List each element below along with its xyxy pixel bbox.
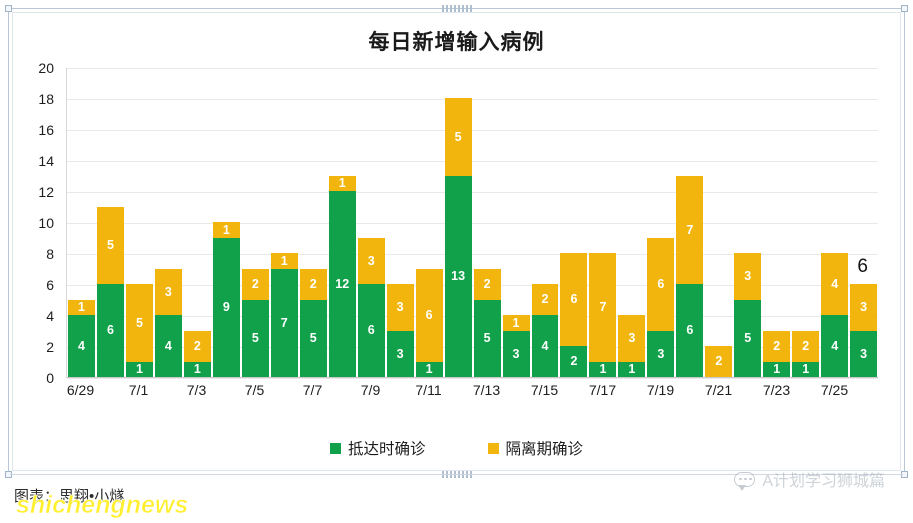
bar-stack[interactable]: 112 xyxy=(328,68,357,377)
watermark-top-right: 狮城新闻 xyxy=(803,14,899,48)
x-axis-tick-label: 7/9 xyxy=(361,382,380,398)
x-axis-tick: 7/13 xyxy=(472,382,501,408)
legend-item[interactable]: 隔离期确诊 xyxy=(488,437,584,459)
bar-segment-quarantine[interactable]: 1 xyxy=(271,253,298,269)
bar-stack[interactable]: 76 xyxy=(675,68,704,377)
chart-legend: 抵达时确诊隔离期确诊 xyxy=(0,437,913,459)
bar-stack[interactable]: 62 xyxy=(559,68,588,377)
chart-source-caption: 图表：思翔•小燧 shichengnews xyxy=(14,479,344,517)
plot-canvas: 1456513421192517251123633615132513246271… xyxy=(66,68,878,378)
bar-segment-quarantine[interactable]: 3 xyxy=(850,284,877,331)
x-axis-tick-label: 7/17 xyxy=(589,382,616,398)
x-axis-tick-label: 6/29 xyxy=(67,382,94,398)
bar-segment-quarantine[interactable]: 2 xyxy=(300,269,327,300)
y-axis-tick-label: 20 xyxy=(18,60,54,76)
bar-segment-arrival[interactable]: 4 xyxy=(68,315,95,377)
bar-stack[interactable]: 63 xyxy=(646,68,675,377)
bar-segment-quarantine[interactable]: 2 xyxy=(532,284,559,315)
bar-segment-arrival[interactable]: 4 xyxy=(821,315,848,377)
bar-segment-quarantine[interactable]: 3 xyxy=(155,269,182,316)
bar-segment-quarantine[interactable]: 2 xyxy=(792,331,819,362)
bar-stack[interactable]: 61 xyxy=(415,68,444,377)
resize-handle-top-right[interactable] xyxy=(901,5,908,12)
y-axis-tick-label: 4 xyxy=(18,308,54,324)
x-axis-tick xyxy=(153,382,182,408)
bar-segment-arrival[interactable]: 3 xyxy=(503,331,530,378)
last-value-annotation: 6 xyxy=(857,256,868,278)
bar-segment-arrival[interactable]: 1 xyxy=(763,362,790,378)
bar-segment-quarantine[interactable]: 5 xyxy=(126,284,153,362)
chat-bubble-icon xyxy=(734,472,755,487)
bar-segment-arrival[interactable]: 4 xyxy=(532,315,559,377)
bar-segment-quarantine[interactable]: 4 xyxy=(821,253,848,315)
bar-segment-quarantine[interactable]: 1 xyxy=(329,176,356,192)
bar-segment-arrival[interactable]: 5 xyxy=(242,300,269,378)
bar-segment-quarantine[interactable]: 2 xyxy=(763,331,790,362)
bar-segment-arrival[interactable]: 6 xyxy=(358,284,385,377)
bar-stack[interactable]: 31 xyxy=(617,68,646,377)
bar-segment-arrival[interactable]: 12 xyxy=(329,191,356,377)
x-axis-tick: 7/21 xyxy=(704,382,733,408)
gridline xyxy=(67,378,878,379)
green-square-icon xyxy=(330,443,341,454)
bar-segment-quarantine[interactable]: 7 xyxy=(676,176,703,285)
bar-segment-arrival[interactable]: 1 xyxy=(184,362,211,378)
bar-segment-arrival[interactable]: 1 xyxy=(618,362,645,378)
bar-segment-quarantine[interactable]: 1 xyxy=(68,300,95,316)
bar-segment-quarantine[interactable]: 1 xyxy=(213,222,240,238)
x-axis-tick: 7/3 xyxy=(182,382,211,408)
y-axis-tick-label: 6 xyxy=(18,277,54,293)
y-axis: 20181614121086420 xyxy=(18,68,60,378)
x-axis-tick-label: 7/23 xyxy=(763,382,790,398)
bar-segment-arrival[interactable]: 2 xyxy=(560,346,587,377)
x-axis-tick xyxy=(733,382,762,408)
bar-segment-quarantine[interactable]: 2 xyxy=(705,346,732,377)
legend-item[interactable]: 抵达时确诊 xyxy=(330,437,426,459)
bar-stack[interactable]: 24 xyxy=(531,68,560,377)
bar-segment-quarantine[interactable]: 6 xyxy=(560,253,587,346)
legend-item-label: 隔离期确诊 xyxy=(506,437,584,459)
x-axis-tick xyxy=(385,382,414,408)
bar-stack[interactable]: 71 xyxy=(588,68,617,377)
bar-series-container: 1456513421192517251123633615132513246271… xyxy=(67,68,878,377)
bar-segment-quarantine[interactable]: 5 xyxy=(97,207,124,285)
bar-segment-arrival[interactable]: 1 xyxy=(416,362,443,378)
bar-segment-arrival[interactable]: 5 xyxy=(474,300,501,378)
x-axis-tick: 7/5 xyxy=(240,382,269,408)
bar-stack[interactable]: 2 xyxy=(704,68,733,377)
bar-segment-arrival[interactable]: 4 xyxy=(155,315,182,377)
bar-segment-quarantine[interactable]: 3 xyxy=(618,315,645,362)
y-axis-tick-label: 8 xyxy=(18,246,54,262)
bar-stack[interactable]: 21 xyxy=(791,68,820,377)
x-axis-tick-label: 7/7 xyxy=(303,382,322,398)
x-axis-tick xyxy=(791,382,820,408)
x-axis-tick xyxy=(95,382,124,408)
bar-segment-quarantine[interactable]: 3 xyxy=(387,284,414,331)
bar-segment-quarantine[interactable]: 2 xyxy=(474,269,501,300)
x-axis-tick: 7/11 xyxy=(414,382,443,408)
x-axis-tick-label: 7/21 xyxy=(705,382,732,398)
x-axis-tick-label: 7/5 xyxy=(245,382,264,398)
x-axis-tick xyxy=(211,382,240,408)
bar-segment-arrival[interactable]: 6 xyxy=(676,284,703,377)
y-axis-tick-label: 16 xyxy=(18,122,54,138)
x-axis-tick-label: 7/13 xyxy=(473,382,500,398)
bar-stack[interactable]: 21 xyxy=(183,68,212,377)
bar-stack[interactable]: 25 xyxy=(241,68,270,377)
bar-segment-arrival[interactable]: 7 xyxy=(271,269,298,378)
x-axis-tick-label: 7/25 xyxy=(821,382,848,398)
bar-stack[interactable]: 51 xyxy=(125,68,154,377)
bar-segment-arrival[interactable]: 9 xyxy=(213,238,240,378)
bar-segment-arrival[interactable]: 3 xyxy=(647,331,674,378)
x-axis: 6/297/17/37/57/77/97/117/137/157/177/197… xyxy=(66,382,878,408)
bar-segment-quarantine[interactable]: 6 xyxy=(647,238,674,331)
orange-square-icon xyxy=(488,443,499,454)
bar-segment-quarantine[interactable]: 2 xyxy=(184,331,211,362)
bar-segment-quarantine[interactable]: 1 xyxy=(503,315,530,331)
watermark-bottom-right-label: A计划学习狮城篇 xyxy=(762,467,885,491)
x-axis-tick xyxy=(617,382,646,408)
x-axis-tick: 7/7 xyxy=(298,382,327,408)
x-axis-tick: 6/29 xyxy=(66,382,95,408)
bar-stack[interactable]: 36 xyxy=(357,68,386,377)
bar-stack[interactable]: 33 xyxy=(849,68,878,377)
bar-segment-arrival[interactable]: 3 xyxy=(387,331,414,378)
x-axis-tick-label: 7/15 xyxy=(531,382,558,398)
bar-segment-quarantine[interactable]: 2 xyxy=(242,269,269,300)
x-axis-tick-label: 7/1 xyxy=(129,382,148,398)
watermark-caption-overlay: shichengnews xyxy=(16,491,188,520)
x-axis-tick: 7/23 xyxy=(762,382,791,408)
bar-segment-arrival[interactable]: 6 xyxy=(97,284,124,377)
x-axis-tick: 7/25 xyxy=(820,382,849,408)
x-axis-tick: 7/15 xyxy=(530,382,559,408)
legend-item-label: 抵达时确诊 xyxy=(348,437,426,459)
bar-segment-quarantine[interactable]: 3 xyxy=(734,253,761,300)
chart-plot-area: 20181614121086420 1456513421192517251123… xyxy=(18,68,878,388)
x-axis-tick xyxy=(849,382,878,408)
x-axis-tick: 7/1 xyxy=(124,382,153,408)
bar-stack[interactable]: 25 xyxy=(473,68,502,377)
bar-segment-arrival[interactable]: 1 xyxy=(126,362,153,378)
x-axis-tick-label: 7/11 xyxy=(415,382,441,398)
bar-segment-arrival[interactable]: 3 xyxy=(850,331,877,378)
bar-stack[interactable]: 17 xyxy=(270,68,299,377)
bar-segment-quarantine[interactable]: 5 xyxy=(445,98,472,176)
bar-stack[interactable]: 44 xyxy=(820,68,849,377)
x-axis-tick: 7/9 xyxy=(356,382,385,408)
watermark-bottom-right: A计划学习狮城篇 xyxy=(734,467,885,491)
bar-segment-arrival[interactable]: 1 xyxy=(589,362,616,378)
bar-stack[interactable]: 19 xyxy=(212,68,241,377)
bar-stack[interactable]: 33 xyxy=(386,68,415,377)
bar-segment-arrival[interactable]: 13 xyxy=(445,176,472,378)
chart-title: 每日新增输入病例 xyxy=(0,26,913,56)
frame-resize-dots-top[interactable] xyxy=(442,5,472,12)
x-axis-tick-label: 7/19 xyxy=(647,382,674,398)
bar-stack[interactable]: 21 xyxy=(762,68,791,377)
bar-stack[interactable]: 13 xyxy=(502,68,531,377)
bar-segment-quarantine[interactable]: 6 xyxy=(416,269,443,362)
y-axis-tick-label: 10 xyxy=(18,215,54,231)
x-axis-tick: 7/17 xyxy=(588,382,617,408)
resize-handle-top-left[interactable] xyxy=(5,5,12,12)
x-axis-tick: 7/19 xyxy=(646,382,675,408)
bar-segment-quarantine[interactable]: 7 xyxy=(589,253,616,362)
x-axis-tick xyxy=(501,382,530,408)
y-axis-tick-label: 2 xyxy=(18,339,54,355)
bar-segment-arrival[interactable]: 1 xyxy=(792,362,819,378)
bar-stack[interactable]: 35 xyxy=(733,68,762,377)
bar-stack[interactable]: 513 xyxy=(444,68,473,377)
bar-stack[interactable]: 34 xyxy=(154,68,183,377)
x-axis-tick xyxy=(559,382,588,408)
x-axis-line xyxy=(67,377,878,378)
bar-segment-quarantine[interactable]: 3 xyxy=(358,238,385,285)
bar-stack[interactable]: 56 xyxy=(96,68,125,377)
bar-segment-arrival[interactable]: 5 xyxy=(300,300,327,378)
x-axis-tick xyxy=(327,382,356,408)
x-axis-tick xyxy=(443,382,472,408)
y-axis-tick-label: 0 xyxy=(18,370,54,386)
bar-stack[interactable]: 25 xyxy=(299,68,328,377)
y-axis-tick-label: 12 xyxy=(18,184,54,200)
bar-segment-arrival[interactable]: 5 xyxy=(734,300,761,378)
x-axis-tick xyxy=(269,382,298,408)
x-axis-tick-label: 7/3 xyxy=(187,382,206,398)
x-axis-tick xyxy=(675,382,704,408)
screenshot-root: 每日新增输入病例 狮城新闻 20181614121086420 14565134… xyxy=(0,0,913,523)
bar-stack[interactable]: 14 xyxy=(67,68,96,377)
y-axis-tick-label: 18 xyxy=(18,91,54,107)
y-axis-tick-label: 14 xyxy=(18,153,54,169)
